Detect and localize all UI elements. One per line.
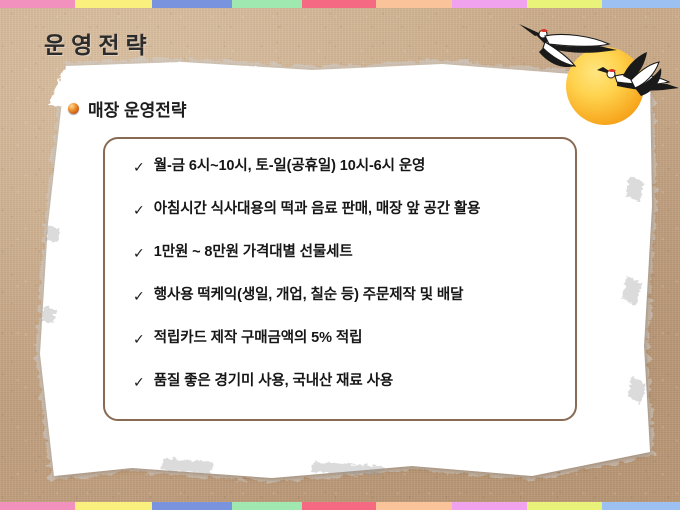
list-item: ✓적립카드 제작 구매금액의 5% 적립 [105, 328, 575, 371]
colorbar-segment-5 [302, 502, 376, 510]
colorbar-segment-7 [452, 502, 527, 510]
colorbar-segment-1 [0, 0, 75, 8]
colorbar-segment-8 [527, 0, 602, 8]
list-item: ✓1만원 ~ 8만원 가격대별 선물세트 [105, 242, 575, 285]
page-title: 운영전략 [44, 26, 153, 60]
slide-canvas: 운영전략 매장 운영전략 ✓월-금 6시~10시, 토-일(공휴일) 10시-6… [0, 0, 680, 510]
check-icon: ✓ [133, 157, 145, 177]
check-icon: ✓ [133, 243, 145, 263]
colorbar-segment-4 [232, 0, 302, 8]
colorbar-segment-2 [75, 502, 152, 510]
colorbar-segment-9 [602, 0, 680, 8]
section-heading: 매장 운영전략 [68, 96, 187, 121]
list-item: ✓품질 좋은 경기미 사용, 국내산 재료 사용 [105, 371, 575, 414]
colorbar-segment-3 [152, 0, 232, 8]
list-item-label: 적립카드 제작 구매금액의 5% 적립 [154, 328, 363, 348]
colorbar-segment-6 [376, 0, 452, 8]
colorbar-segment-5 [302, 0, 376, 8]
sphere-bullet-icon [68, 103, 79, 114]
list-item-label: 아침시간 식사대용의 떡과 음료 판매, 매장 앞 공간 활용 [154, 199, 481, 219]
bottom-colorbar [0, 502, 680, 510]
list-item-label: 행사용 떡케익(생일, 개업, 칠순 등) 주문제작 및 배달 [154, 285, 464, 305]
colorbar-segment-2 [75, 0, 152, 8]
colorbar-segment-1 [0, 502, 75, 510]
list-item: ✓아침시간 식사대용의 떡과 음료 판매, 매장 앞 공간 활용 [105, 199, 575, 242]
check-icon: ✓ [133, 329, 145, 349]
top-colorbar [0, 0, 680, 8]
check-icon: ✓ [133, 286, 145, 306]
colorbar-segment-9 [602, 502, 680, 510]
strategy-list: ✓월-금 6시~10시, 토-일(공휴일) 10시-6시 운영✓아침시간 식사대… [105, 139, 575, 414]
check-icon: ✓ [133, 200, 145, 220]
colorbar-segment-3 [152, 502, 232, 510]
section-heading-label: 매장 운영전략 [88, 96, 187, 121]
colorbar-segment-8 [527, 502, 602, 510]
colorbar-segment-6 [376, 502, 452, 510]
list-item-label: 월-금 6시~10시, 토-일(공휴일) 10시-6시 운영 [154, 156, 426, 176]
content-box: ✓월-금 6시~10시, 토-일(공휴일) 10시-6시 운영✓아침시간 식사대… [103, 137, 577, 421]
list-item-label: 1만원 ~ 8만원 가격대별 선물세트 [154, 242, 353, 262]
list-item: ✓월-금 6시~10시, 토-일(공휴일) 10시-6시 운영 [105, 156, 575, 199]
list-item: ✓행사용 떡케익(생일, 개업, 칠순 등) 주문제작 및 배달 [105, 285, 575, 328]
check-icon: ✓ [133, 372, 145, 392]
list-item-label: 품질 좋은 경기미 사용, 국내산 재료 사용 [154, 371, 393, 391]
colorbar-segment-4 [232, 502, 302, 510]
colorbar-segment-7 [452, 0, 527, 8]
